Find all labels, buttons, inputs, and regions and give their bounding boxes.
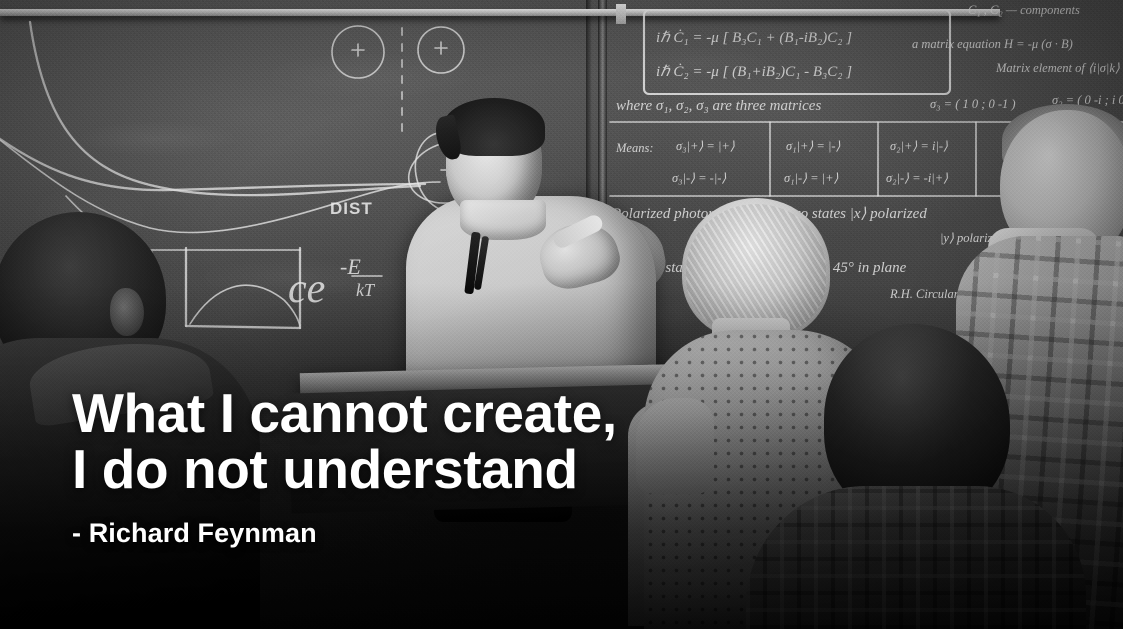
- student-left-ear: [110, 288, 144, 336]
- student-blonde-hair-texture: [686, 204, 826, 336]
- student-blonde-sleeve: [636, 398, 714, 494]
- quote-card: DIST ce -E kT iℏ Ċ₁ = -μ [ B₃C₁ + (B₁-iB…: [0, 0, 1123, 629]
- student-center-plaid-pattern: [746, 486, 1086, 629]
